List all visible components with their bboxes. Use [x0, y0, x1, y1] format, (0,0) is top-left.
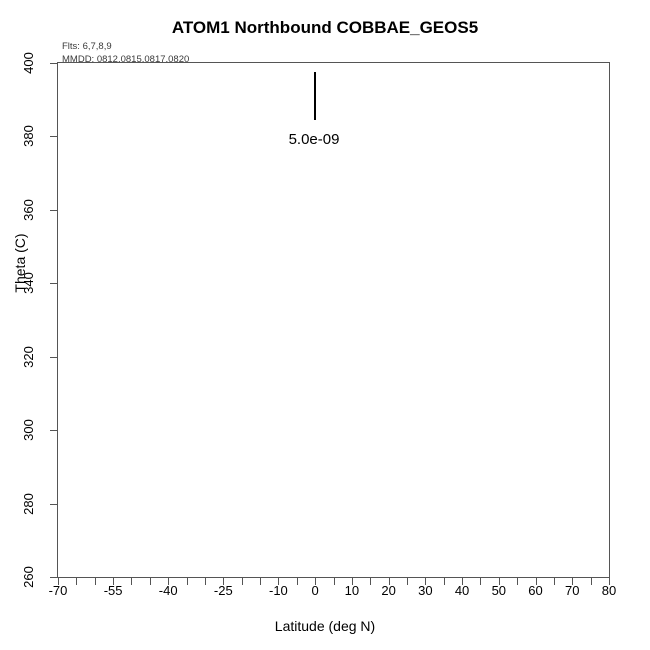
x-tick-mark — [334, 578, 335, 585]
x-tick-label: 80 — [602, 583, 616, 598]
x-tick-label: -40 — [159, 583, 178, 598]
y-tick-mark — [50, 357, 57, 358]
y-tick-label: 380 — [8, 116, 48, 156]
x-tick-mark — [517, 578, 518, 585]
y-tick-label: 320 — [8, 337, 48, 377]
x-tick-mark — [95, 578, 96, 585]
x-tick-mark — [444, 578, 445, 585]
x-tick-label: 40 — [455, 583, 469, 598]
y-tick-label: 400 — [8, 43, 48, 83]
x-tick-label: 10 — [345, 583, 359, 598]
x-tick-mark — [131, 578, 132, 585]
x-tick-mark — [297, 578, 298, 585]
x-tick-mark — [591, 578, 592, 585]
y-tick-mark — [50, 504, 57, 505]
scale-reference-bar — [314, 72, 316, 120]
y-tick-label: 260 — [8, 557, 48, 597]
x-tick-mark — [407, 578, 408, 585]
y-tick-label: 280 — [8, 484, 48, 524]
x-tick-mark — [370, 578, 371, 585]
x-tick-mark — [242, 578, 243, 585]
x-tick-label: 50 — [492, 583, 506, 598]
y-tick-mark — [50, 136, 57, 137]
x-tick-mark — [260, 578, 261, 585]
y-tick-mark — [50, 63, 57, 64]
flights-annotation: Flts: 6,7,8,9 — [62, 40, 189, 53]
figure-root: ATOM1 Northbound COBBAE_GEOS5 Flts: 6,7,… — [0, 0, 650, 650]
x-tick-label: 0 — [312, 583, 319, 598]
x-tick-label: -25 — [214, 583, 233, 598]
chart-title: ATOM1 Northbound COBBAE_GEOS5 — [0, 18, 650, 38]
x-tick-mark — [150, 578, 151, 585]
x-tick-mark — [187, 578, 188, 585]
x-tick-label: 20 — [381, 583, 395, 598]
x-tick-mark — [554, 578, 555, 585]
x-tick-label: 60 — [528, 583, 542, 598]
y-tick-mark — [50, 577, 57, 578]
x-tick-label: -55 — [104, 583, 123, 598]
y-tick-label: 300 — [8, 410, 48, 450]
x-tick-label: -70 — [49, 583, 68, 598]
x-axis-label: Latitude (deg N) — [0, 618, 650, 634]
x-tick-label: -10 — [269, 583, 288, 598]
x-tick-mark — [76, 578, 77, 585]
y-tick-mark — [50, 283, 57, 284]
x-tick-mark — [205, 578, 206, 585]
x-tick-label: 30 — [418, 583, 432, 598]
x-tick-label: 70 — [565, 583, 579, 598]
y-axis-label: Theta (C) — [12, 203, 28, 323]
y-tick-mark — [50, 210, 57, 211]
scale-reference-label: 5.0e-09 — [244, 131, 384, 148]
x-tick-mark — [480, 578, 481, 585]
y-tick-mark — [50, 430, 57, 431]
